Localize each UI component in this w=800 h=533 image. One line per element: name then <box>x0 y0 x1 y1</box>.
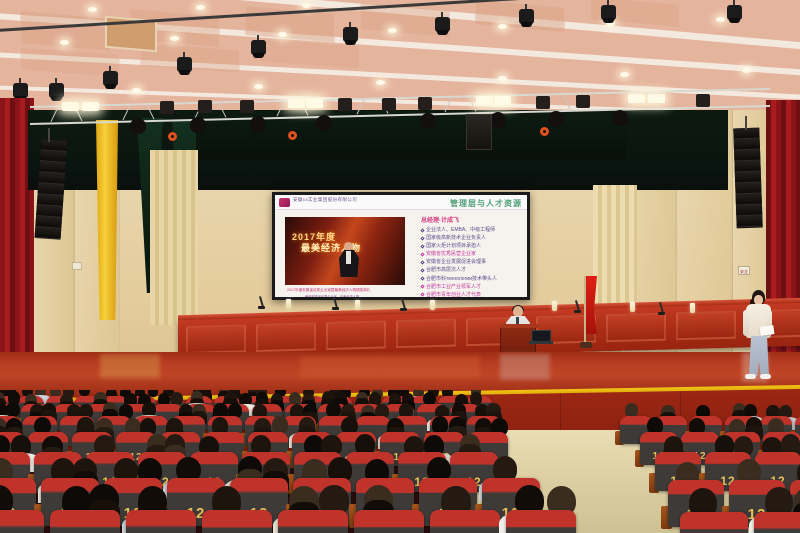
par-can-fixture <box>198 100 212 113</box>
audience-seat[interactable]: 12 <box>50 510 120 533</box>
ceiling-downlight <box>132 88 141 93</box>
audience-seat[interactable]: 12 <box>754 512 800 533</box>
microphone-base <box>574 310 581 313</box>
slide-caption-secondary: 荣获安徽省优秀企业家、最美经济人物 <box>305 294 359 297</box>
par-can-fixture <box>576 95 590 108</box>
hanging-stage-light <box>250 116 266 132</box>
water-bottle <box>552 301 557 311</box>
hanging-stage-light <box>316 115 332 131</box>
ceiling-downlight <box>196 5 205 10</box>
slide-bullet-item: 合肥市工业产业领军人才 <box>421 284 527 290</box>
par-can-fixture <box>696 94 710 107</box>
bullet-diamond-icon <box>420 260 424 264</box>
water-bottle <box>630 302 635 312</box>
bullet-diamond-icon <box>420 293 424 297</box>
seated-audience: 1212121212121212121212121212121212121212… <box>0 390 800 533</box>
slide-bullet-text: 合肥市高层次人才 <box>426 267 466 273</box>
microphone-base <box>258 306 265 309</box>
slide-bullet-text: 安徽省优秀民营企业家 <box>426 251 476 257</box>
par-can-fixture <box>240 100 254 113</box>
slide-video-thumbnail: 2017年度 最美经济人物 <box>285 217 405 285</box>
microphone-base <box>658 312 665 315</box>
stage-spotlight <box>250 35 267 57</box>
bullet-diamond-icon <box>420 244 424 248</box>
stage-spotlight <box>518 4 535 26</box>
slide-bullet-item: 国家火炬计划项目承担人 <box>421 243 527 249</box>
slide-header: 安徽xx实业集团股份有限公司 管理层与人才资源 <box>275 195 527 210</box>
audience-seat[interactable]: 12 <box>278 510 348 533</box>
truss-lamp <box>288 99 305 108</box>
line-array-speaker <box>733 128 762 229</box>
microphone-base <box>332 307 339 310</box>
cream-drape-left <box>150 150 198 325</box>
slide-bullet-item: 合肥市青年创业人才代表 <box>421 292 527 297</box>
ceiling-downlight <box>302 3 311 8</box>
par-can-fixture <box>418 97 432 110</box>
slide-bullet-item: 合肥市高层次人才 <box>421 267 527 273</box>
hanging-stage-light <box>420 113 436 129</box>
exit-sign: 安全 <box>738 266 750 275</box>
stage-monitor-speaker <box>466 114 492 150</box>
ceiling-downlight <box>170 36 179 41</box>
slide-bullet-item: 国家级高新技术企业负责人 <box>421 235 527 241</box>
ceiling-downlight <box>254 84 263 89</box>
hanging-stage-light <box>190 117 206 133</box>
stage-spotlight <box>48 78 65 100</box>
stage-spotlight <box>726 0 743 22</box>
wall-socket <box>72 262 82 270</box>
slide-award-recipient <box>338 242 360 284</box>
slide-bullet-item: 合肥市科технологии技术带头人 <box>421 276 527 282</box>
par-can-fixture <box>160 101 174 114</box>
microphone-base <box>400 308 407 311</box>
auditorium-photo: 安全 <box>0 0 800 533</box>
speaker-rigging <box>48 128 50 142</box>
truss-lamp <box>494 96 511 105</box>
slide-bullets-lead: 总经理·计成飞 <box>421 215 527 224</box>
audience-seat[interactable]: 12 <box>354 510 424 533</box>
light-clamp <box>540 127 549 136</box>
stage-spotlight <box>176 52 193 74</box>
audience-seat[interactable]: 12 <box>506 510 576 533</box>
truss-lamp <box>648 94 665 103</box>
truss-lamp <box>62 102 79 111</box>
speaker-rigging <box>745 116 747 130</box>
truss-lamp <box>82 102 99 111</box>
light-clamp <box>288 131 297 140</box>
hanging-stage-light <box>130 118 146 134</box>
ceiling-downlight <box>88 7 97 12</box>
stage-spotlight <box>102 66 119 88</box>
bullet-diamond-icon <box>420 285 424 289</box>
slide-bullet-text: 国家级高新技术企业负责人 <box>426 235 486 241</box>
slide-company-name: 安徽xx实业集团股份有限公司 <box>293 197 357 202</box>
ceiling-downlight <box>620 72 629 77</box>
par-can-fixture <box>382 98 396 111</box>
bullet-diamond-icon <box>420 252 424 256</box>
projection-screen-frame: 安徽xx实业集团股份有限公司 管理层与人才资源 2017年度 最美经济人物 20… <box>272 192 530 300</box>
stage-spotlight <box>434 12 451 34</box>
truss-lamp <box>476 96 493 105</box>
held-papers <box>759 325 774 336</box>
ceiling-downlight <box>60 40 69 45</box>
slide-bullet-item: 企业法人、EMBA、中级工程师 <box>421 227 527 233</box>
hanging-stage-light <box>490 112 506 128</box>
audience-seat[interactable]: 12 <box>680 512 748 533</box>
audience-seat[interactable]: 12 <box>430 510 500 533</box>
water-bottle <box>286 299 291 309</box>
laptop <box>529 330 553 344</box>
hanging-stage-light <box>612 110 628 126</box>
water-bottle <box>355 300 360 310</box>
slide-title: 管理层与人才资源 <box>450 198 522 209</box>
slide-caption: 2017年度安徽省优秀企业家暨最美经济人物颁奖典礼 <box>287 288 370 293</box>
water-bottle <box>690 303 695 313</box>
bullet-diamond-icon <box>420 276 424 280</box>
light-clamp <box>168 132 177 141</box>
bullet-diamond-icon <box>420 228 424 232</box>
ceiling-downlight <box>388 28 397 33</box>
slide-bullet-text: 安徽省企业发展促进会理事 <box>426 259 486 265</box>
red-flag <box>584 276 598 348</box>
stage-spotlight <box>600 0 617 22</box>
water-bottle <box>430 300 435 310</box>
stage-spotlight <box>342 22 359 44</box>
audience-seat[interactable]: 12 <box>126 510 196 533</box>
par-can-fixture <box>338 98 352 111</box>
projection-screen: 安徽xx实业集团股份有限公司 管理层与人才资源 2017年度 最美经济人物 20… <box>275 195 527 297</box>
ceiling-downlight <box>278 32 287 37</box>
slide-bullet-item: 安徽省企业发展促进会理事 <box>421 259 527 265</box>
ceiling-downlight <box>376 80 385 85</box>
ceiling-downlight <box>498 24 507 29</box>
ceiling-downlight <box>716 17 725 22</box>
bullet-diamond-icon <box>420 236 424 240</box>
slide-bullet-list: 总经理·计成飞 企业法人、EMBA、中级工程师国家级高新技术企业负责人国家火炬计… <box>421 215 527 297</box>
stage-spotlight <box>12 78 29 100</box>
truss-lamp <box>306 99 323 108</box>
slide-bullet-text: 合肥市科технологии技术带头人 <box>426 276 497 282</box>
audience-head <box>6 402 20 417</box>
slide-bullet-text: 合肥市工业产业领军人才 <box>426 284 481 290</box>
audience-seat[interactable]: 12 <box>202 510 272 533</box>
ceiling-downlight <box>742 68 751 73</box>
slide-bullet-text: 企业法人、EMBA、中级工程师 <box>426 227 495 233</box>
staff-walking-on-stage <box>742 290 776 385</box>
bullet-diamond-icon <box>420 268 424 272</box>
audience-head <box>625 403 638 417</box>
truss-lamp <box>628 94 645 103</box>
par-can-fixture <box>536 96 550 109</box>
yellow-drape <box>96 120 118 320</box>
hanging-stage-light <box>548 111 564 127</box>
ceiling-downlight <box>498 76 507 81</box>
slide-bullet-text: 合肥市青年创业人才代表 <box>426 292 481 297</box>
slide-bullet-text: 国家火炬计划项目承担人 <box>426 243 481 249</box>
audience-seat[interactable]: 12 <box>0 510 44 533</box>
slide-bullet-item: 安徽省优秀民营企业家 <box>421 251 527 257</box>
company-logo-icon <box>279 198 290 207</box>
